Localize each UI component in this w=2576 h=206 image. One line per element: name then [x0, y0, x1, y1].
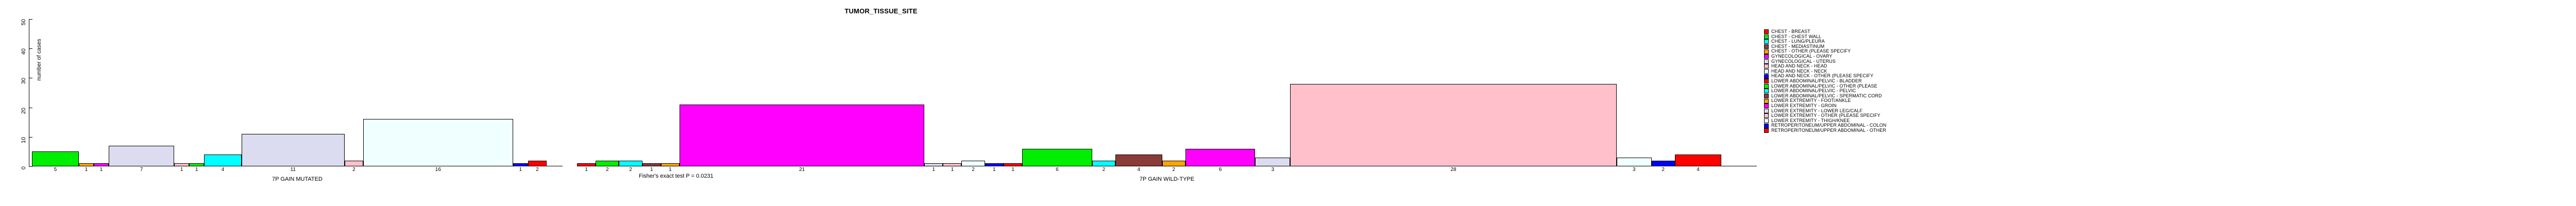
- bar: [204, 154, 242, 166]
- y-tick-label: 40: [21, 48, 27, 72]
- legend-swatch-icon: [1764, 128, 1769, 133]
- legend: CHEST - BREASTCHEST - CHEST WALLCHEST - …: [1764, 29, 2576, 133]
- legend-swatch-icon: [1764, 39, 1769, 44]
- bar: [242, 134, 345, 166]
- bar: [1255, 158, 1290, 166]
- legend-swatch-icon: [1764, 79, 1769, 83]
- group-label-wild-type: 7P GAIN WILD-TYPE: [577, 176, 1757, 182]
- page-title: TUMOR_TISSUE_SITE: [0, 7, 1762, 15]
- legend-label: RETROPERITONEUM/UPPER ABDOMINAL - OTHER: [1771, 128, 1886, 133]
- bar: [32, 151, 79, 166]
- chart-canvas: TUMOR_TISSUE_SITE number of cases 010203…: [0, 0, 2576, 206]
- bar: [1290, 84, 1616, 166]
- bar: [1115, 154, 1162, 166]
- y-tick-label: 10: [21, 137, 27, 161]
- bar-count-label: 7: [104, 167, 179, 173]
- legend-swatch-icon: [1764, 69, 1769, 74]
- legend-item: HEAD AND NECK - HEAD: [1764, 64, 2576, 69]
- y-axis-line: [29, 19, 29, 166]
- legend-swatch-icon: [1764, 59, 1769, 64]
- bar: [680, 105, 924, 166]
- bar-count-label: 4: [1670, 167, 1726, 173]
- legend-item: CHEST - OTHER (PLEASE SPECIFY: [1764, 49, 2576, 54]
- legend-item: CHEST - MEDIASTINUM: [1764, 44, 2576, 49]
- y-tick-label: 50: [21, 19, 27, 43]
- bar: [1617, 158, 1652, 166]
- legend-item: HEAD AND NECK - OTHER (PLEASE SPECIFY: [1764, 74, 2576, 79]
- legend-item: CHEST - CHEST WALL: [1764, 35, 2576, 40]
- bar: [363, 119, 513, 166]
- bar-count-label: 16: [358, 167, 518, 173]
- legend-swatch-icon: [1764, 124, 1769, 128]
- legend-item: LOWER EXTREMITY - OTHER (PLEASE SPECIFY: [1764, 113, 2576, 118]
- bar: [1185, 149, 1256, 166]
- legend-item: LOWER ABDOMINAL/PELVIC - OTHER (PLEASE: [1764, 84, 2576, 89]
- bar-count-label: 6: [1017, 167, 1097, 173]
- legend-item: LOWER EXTREMITY - LOWER LEG/CALF: [1764, 109, 2576, 114]
- panel-7p-gain-wild-type: 12211211121162426328324 7P GAIN WILD-TYP…: [577, 19, 1757, 166]
- legend-swatch-icon: [1764, 49, 1769, 54]
- legend-item: GYNECOLOGICAL - UTERUS: [1764, 59, 2576, 64]
- legend-item: LOWER EXTREMITY - FOOT/ANKLE: [1764, 98, 2576, 104]
- legend-swatch-icon: [1764, 29, 1769, 34]
- legend-item: CHEST - BREAST: [1764, 29, 2576, 35]
- legend-swatch-icon: [1764, 35, 1769, 39]
- legend-item: CHEST - LUNG/PLEURA: [1764, 39, 2576, 44]
- legend-item: GYNECOLOGICAL - OVARY: [1764, 54, 2576, 59]
- legend-swatch-icon: [1764, 44, 1769, 49]
- bar-count-label: 6: [1180, 167, 1261, 173]
- bar-count-label: 28: [1285, 167, 1621, 173]
- bar-count-label: 21: [674, 167, 929, 173]
- bar: [1675, 154, 1721, 166]
- x-axis-line-wild-type: [577, 166, 1757, 166]
- y-tick-label: 30: [21, 78, 27, 101]
- bar-group-mutated: 51171141121612: [32, 19, 563, 166]
- bar: [109, 146, 174, 166]
- legend-item: LOWER ABDOMINAL/PELVIC - PELVIC: [1764, 89, 2576, 94]
- bar: [1022, 149, 1092, 166]
- legend-swatch-icon: [1764, 74, 1769, 79]
- group-label-mutated: 7P GAIN MUTATED: [32, 176, 563, 182]
- bar-count-label: 11: [236, 167, 350, 173]
- legend-item: LOWER EXTREMITY - GROIN: [1764, 104, 2576, 109]
- bar-group-wild-type: 12211211121162426328324: [577, 19, 1757, 166]
- legend-swatch-icon: [1764, 113, 1769, 118]
- legend-item: LOWER ABDOMINAL/PELVIC - BLADDER: [1764, 79, 2576, 84]
- panel-7p-gain-mutated: 51171141121612 7P GAIN MUTATED: [32, 19, 563, 166]
- legend-item: HEAD AND NECK - NECK: [1764, 69, 2576, 74]
- y-tick-label: 20: [21, 108, 27, 131]
- legend-swatch-icon: [1764, 104, 1769, 108]
- legend-swatch-icon: [1764, 89, 1769, 93]
- legend-swatch-icon: [1764, 99, 1769, 104]
- legend-swatch-icon: [1764, 109, 1769, 113]
- legend-item: LOWER ABDOMINAL/PELVIC - SPERMATIC CORD: [1764, 94, 2576, 99]
- legend-swatch-icon: [1764, 54, 1769, 59]
- legend-item: RETROPERITONEUM/UPPER ABDOMINAL - OTHER: [1764, 128, 2576, 133]
- legend-swatch-icon: [1764, 118, 1769, 123]
- legend-swatch-icon: [1764, 94, 1769, 98]
- legend-swatch-icon: [1764, 84, 1769, 89]
- x-axis-line-mutated: [32, 166, 563, 166]
- fisher-test-annotation: Fisher's exact test P = 0.0231: [639, 173, 714, 179]
- bar-count-label: 2: [523, 167, 552, 173]
- legend-swatch-icon: [1764, 64, 1769, 68]
- y-tick-label: 0: [21, 166, 27, 190]
